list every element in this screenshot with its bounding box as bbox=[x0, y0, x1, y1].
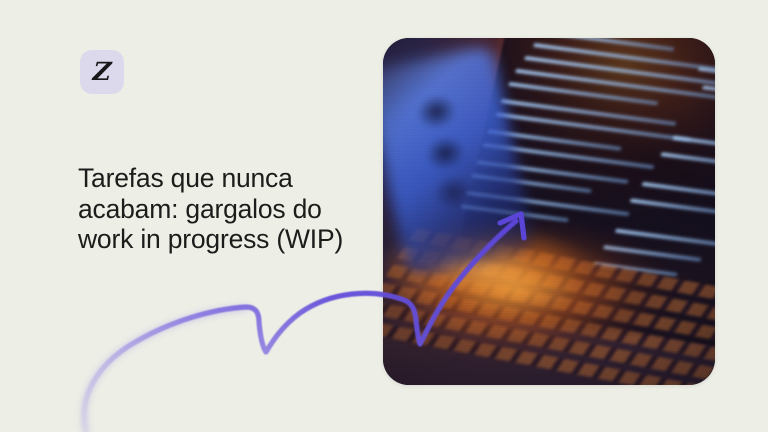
hero-image-panel bbox=[383, 38, 715, 385]
arrow-tail-glow bbox=[84, 308, 246, 432]
z-logo-icon: Z bbox=[92, 59, 112, 84]
card-canvas: Z Tarefas que nunca acabam: gargalos do … bbox=[0, 0, 768, 432]
photo-grain bbox=[383, 38, 715, 385]
page-title: Tarefas que nunca acabam: gargalos do wo… bbox=[78, 163, 368, 255]
brand-logo-badge[interactable]: Z bbox=[80, 50, 124, 94]
